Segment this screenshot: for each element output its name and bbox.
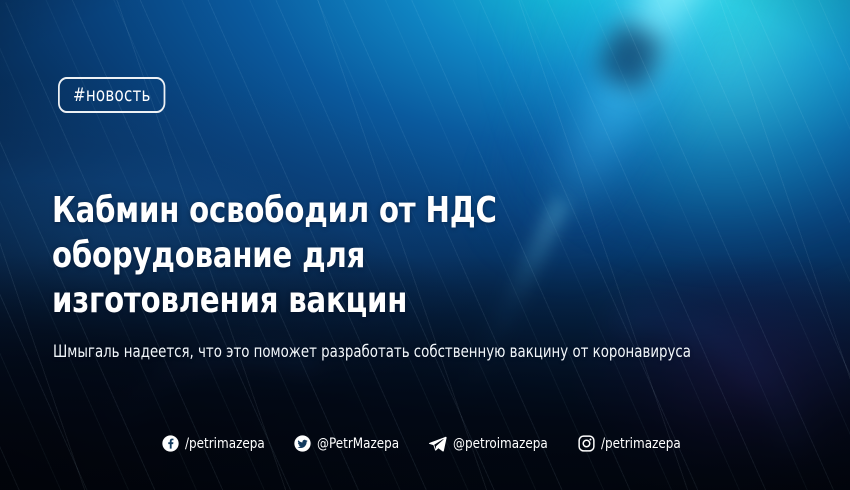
category-badge-label: #новость	[73, 84, 151, 106]
social-links: /petrimazepa @PetrMazepa @petroimaz	[0, 434, 850, 453]
instagram-icon	[578, 435, 595, 452]
headline: Кабмин освободил от НДС оборудование для…	[52, 188, 682, 323]
category-badge[interactable]: #новость	[58, 77, 166, 113]
social-link-twitter[interactable]: @PetrMazepa	[294, 435, 406, 452]
twitter-icon	[294, 435, 311, 452]
news-card: #новость Кабмин освободил от НДС оборудо…	[0, 0, 850, 490]
facebook-icon	[162, 435, 179, 452]
telegram-icon	[428, 434, 447, 453]
social-handle: @PetrMazepa	[317, 436, 399, 452]
social-link-facebook[interactable]: /petrimazepa	[162, 435, 272, 452]
subtitle: Шмыгаль надеется, что это поможет разраб…	[53, 341, 737, 363]
social-link-telegram[interactable]: @petroimazepa	[428, 434, 556, 453]
card-content: #новость Кабмин освободил от НДС оборудо…	[0, 0, 850, 490]
social-handle: /petrimazepa	[185, 436, 265, 452]
social-link-instagram[interactable]: /petrimazepa	[578, 435, 688, 452]
social-handle: @petroimazepa	[453, 436, 548, 452]
social-handle: /petrimazepa	[601, 436, 681, 452]
